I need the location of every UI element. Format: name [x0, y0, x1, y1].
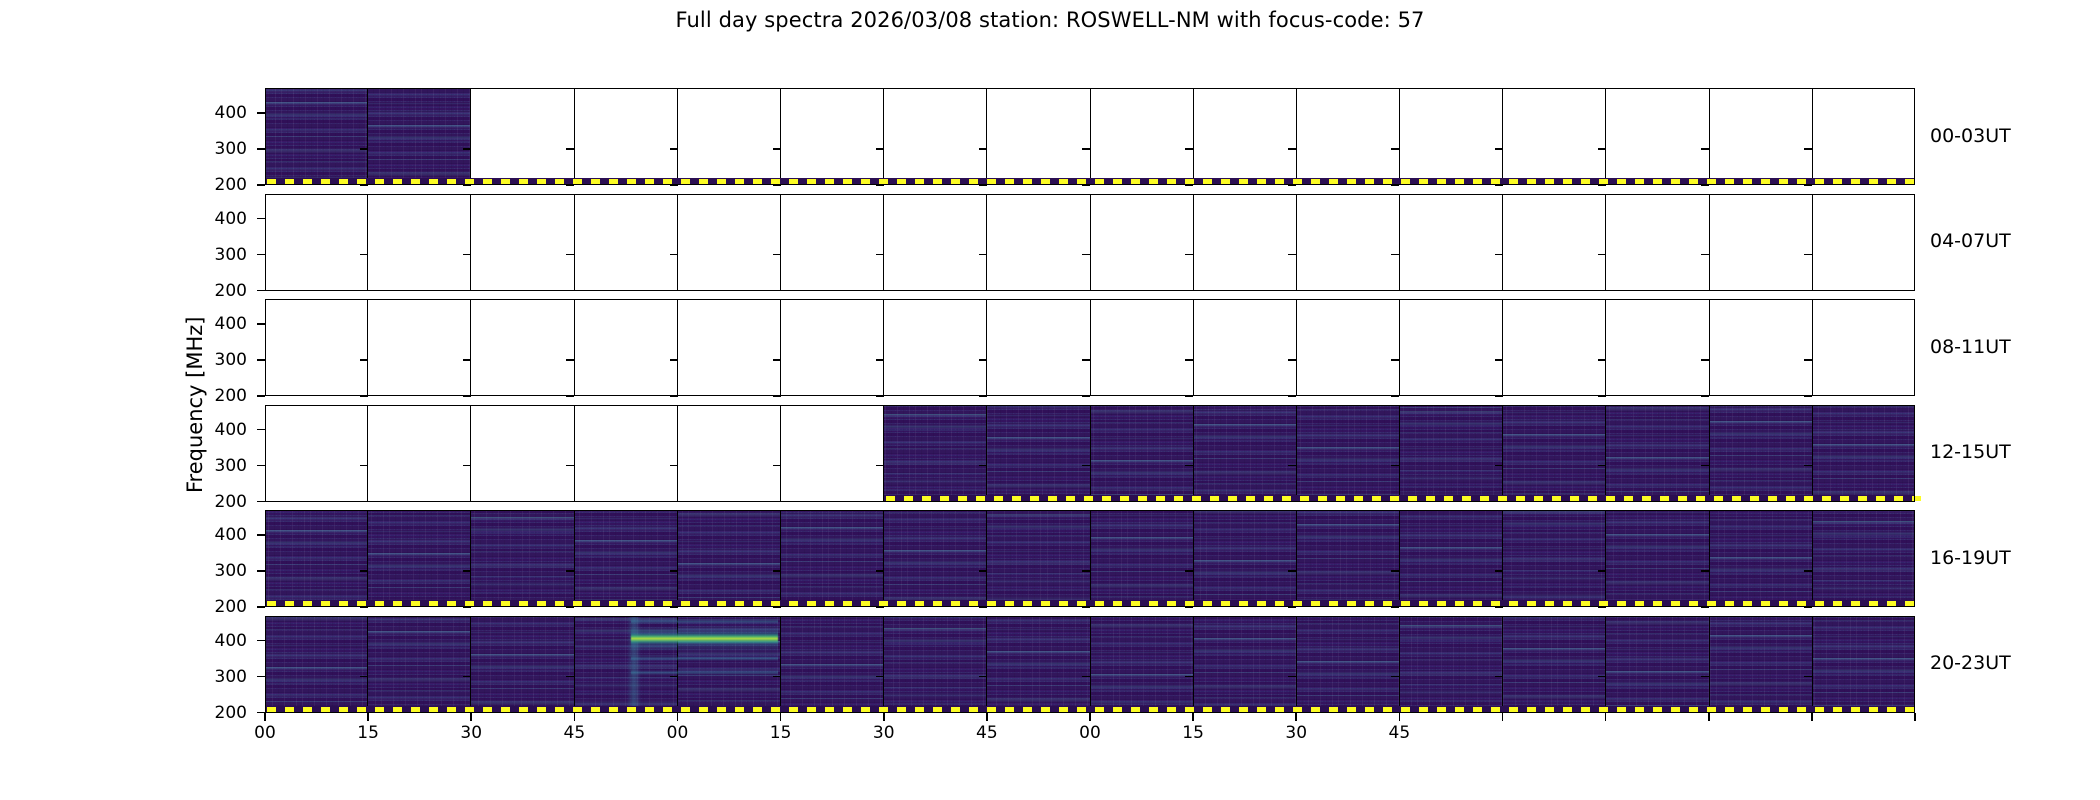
spectrogram-cell-empty[interactable] [471, 194, 574, 291]
x-axis-tick [1914, 713, 1916, 721]
y-axis-tick-label: 300 [189, 667, 247, 687]
spectrogram-row-20-23ut[interactable] [265, 616, 1915, 713]
y-axis-tick [257, 254, 265, 256]
spectrogram-row-04-07ut[interactable] [265, 194, 1915, 291]
noise-layer-bands [884, 405, 986, 502]
spectrogram-data [1606, 405, 1708, 502]
noise-layer-bands [1194, 510, 1296, 607]
interior-tick [1082, 148, 1090, 150]
spectrogram-cell-empty[interactable] [575, 299, 678, 396]
interior-tick [979, 606, 987, 608]
y-axis-tick [257, 712, 265, 714]
interior-tick [1082, 254, 1090, 256]
x-axis-tick-label: 00 [658, 723, 698, 743]
x-axis-tick-label: 15 [761, 723, 801, 743]
interior-tick [463, 570, 471, 572]
row-time-label: 20-23UT [1930, 652, 2011, 674]
interior-tick [773, 395, 781, 397]
interior-tick [566, 148, 574, 150]
spectrogram-cell[interactable] [1194, 405, 1297, 502]
interior-tick [1288, 395, 1296, 397]
spectrogram-cell-empty[interactable] [1400, 299, 1503, 396]
x-axis-tick [470, 713, 472, 721]
x-axis-tick [780, 713, 782, 721]
spectrogram-cell-empty[interactable] [471, 405, 574, 502]
spectrogram-cell[interactable] [1400, 616, 1503, 713]
spectrogram-cell-empty[interactable] [781, 194, 884, 291]
noise-layer-bands [1606, 510, 1708, 607]
interior-tick [1598, 676, 1606, 678]
spectrogram-cell[interactable] [1503, 616, 1606, 713]
interior-tick [773, 184, 781, 186]
interior-tick [773, 254, 781, 256]
interior-tick [979, 465, 987, 467]
spectrogram-cell[interactable] [575, 510, 678, 607]
spectrogram-data [1400, 405, 1502, 502]
noise-layer-bands [781, 510, 883, 607]
row-cells [265, 299, 1915, 396]
noise-layer-bands [1400, 510, 1502, 607]
interior-tick [1391, 465, 1399, 467]
spectrogram-cell[interactable] [987, 510, 1090, 607]
spectrogram-cell[interactable] [1297, 616, 1400, 713]
spectrogram-cell-empty[interactable] [1297, 299, 1400, 396]
noise-layer-bands [1297, 405, 1399, 502]
y-axis-tick-label: 300 [189, 456, 247, 476]
spectrogram-cell[interactable] [575, 616, 678, 713]
spectrogram-cell-empty[interactable] [884, 88, 987, 185]
spectrogram-cell-empty[interactable] [1710, 88, 1813, 185]
spectrogram-cell[interactable] [1091, 616, 1194, 713]
spectrogram-cell-empty[interactable] [1091, 88, 1194, 185]
spectrogram-cell-empty[interactable] [265, 299, 368, 396]
y-axis-tick-label: 400 [189, 420, 247, 440]
interior-tick [670, 501, 678, 503]
interior-tick [1701, 606, 1709, 608]
noise-layer-bands [368, 510, 470, 607]
interior-tick [1804, 465, 1812, 467]
interior-tick [670, 570, 678, 572]
interior-tick [1804, 501, 1812, 503]
spectrogram-cell[interactable] [368, 510, 471, 607]
interior-tick [1391, 148, 1399, 150]
interior-tick [1701, 290, 1709, 292]
spectrogram-cell-empty[interactable] [1503, 88, 1606, 185]
interior-tick [1598, 290, 1606, 292]
spectrogram-data [1710, 616, 1812, 713]
interior-tick [566, 606, 574, 608]
interior-tick [1598, 606, 1606, 608]
interior-tick [1288, 606, 1296, 608]
noise-layer-bands [1503, 405, 1605, 502]
interior-tick [773, 501, 781, 503]
spectrogram-cell-empty[interactable] [678, 88, 781, 185]
y-axis-tick [257, 501, 265, 503]
spectrogram-cell[interactable] [678, 616, 781, 713]
interior-tick [670, 712, 678, 714]
spectrogram-cell-empty[interactable] [1400, 88, 1503, 185]
x-axis-tick [367, 713, 369, 721]
spectrogram-cell[interactable] [1813, 405, 1915, 502]
interior-tick [979, 184, 987, 186]
y-axis-tick-label: 400 [189, 631, 247, 651]
interior-tick [1598, 465, 1606, 467]
interior-tick [1804, 570, 1812, 572]
spectrogram-cell-empty[interactable] [987, 299, 1090, 396]
spectrogram-cell-empty[interactable] [1297, 194, 1400, 291]
interior-tick [1598, 395, 1606, 397]
spectrogram-cell-empty[interactable] [1710, 299, 1813, 396]
spectrogram-data [1194, 510, 1296, 607]
interior-tick [670, 395, 678, 397]
spectrogram-cell[interactable] [1297, 510, 1400, 607]
interior-tick [1288, 712, 1296, 714]
spectrogram-cell-empty[interactable] [781, 299, 884, 396]
spectrogram-cell[interactable] [987, 616, 1090, 713]
y-axis-tick-label: 300 [189, 139, 247, 159]
y-axis-tick-label: 400 [189, 525, 247, 545]
spectrogram-cell[interactable] [781, 616, 884, 713]
interior-tick [1495, 465, 1503, 467]
spectrogram-cell-empty[interactable] [368, 299, 471, 396]
spectrogram-data [1297, 616, 1399, 713]
spectrogram-cell-empty[interactable] [1606, 194, 1709, 291]
spectrogram-cell-empty[interactable] [1813, 299, 1915, 396]
interior-tick [1495, 254, 1503, 256]
spectrogram-row-08-11ut[interactable] [265, 299, 1915, 396]
spectrogram-cell[interactable] [471, 616, 574, 713]
spectrogram-cell-empty[interactable] [1194, 88, 1297, 185]
spectrogram-cell[interactable] [368, 88, 471, 185]
interior-tick [1391, 254, 1399, 256]
row-time-label: 16-19UT [1930, 547, 2011, 569]
spectrogram-data [471, 510, 573, 607]
interior-tick [1495, 712, 1503, 714]
spectrogram-data [884, 405, 986, 502]
interior-tick [670, 465, 678, 467]
spectrogram-cell[interactable] [987, 405, 1090, 502]
spectrogram-cell-empty[interactable] [265, 405, 368, 502]
interior-tick [463, 676, 471, 678]
interior-tick [1495, 290, 1503, 292]
spectrogram-cell-empty[interactable] [471, 88, 574, 185]
interior-tick [1288, 148, 1296, 150]
spectrogram-data [1091, 405, 1193, 502]
x-axis-tick [986, 713, 988, 721]
interior-tick [1185, 712, 1193, 714]
spectrogram-cell-empty[interactable] [884, 299, 987, 396]
interior-tick [670, 676, 678, 678]
spectrogram-cell[interactable] [1297, 405, 1400, 502]
y-axis-tick [257, 676, 265, 678]
spectrogram-cell[interactable] [265, 616, 368, 713]
interior-tick [1804, 359, 1812, 361]
interior-tick [1185, 359, 1193, 361]
spectrogram-cell-empty[interactable] [1813, 88, 1915, 185]
spectrogram-data [1400, 616, 1502, 713]
y-axis-tick-label: 200 [189, 703, 247, 723]
spectrogram-cell-empty[interactable] [987, 194, 1090, 291]
interior-tick [773, 148, 781, 150]
x-axis-tick-label: 45 [554, 723, 594, 743]
spectrogram-cell-empty[interactable] [265, 194, 368, 291]
spectrogram-cell[interactable] [1503, 510, 1606, 607]
y-axis-tick [257, 395, 265, 397]
y-axis-tick-label: 400 [189, 103, 247, 123]
x-axis-tick [1399, 713, 1401, 721]
spectrogram-cell-empty[interactable] [368, 194, 471, 291]
interior-tick [1185, 676, 1193, 678]
spectrogram-data [1400, 510, 1502, 607]
interior-tick [1082, 359, 1090, 361]
spectrogram-data [265, 616, 367, 713]
spectrogram-cell[interactable] [1194, 616, 1297, 713]
spectrogram-cell[interactable] [1710, 510, 1813, 607]
interior-tick [979, 290, 987, 292]
interior-tick [1391, 712, 1399, 714]
spectrogram-cell[interactable] [471, 510, 574, 607]
interior-tick [1598, 570, 1606, 572]
x-axis-tick-label: 15 [348, 723, 388, 743]
interior-tick [1288, 254, 1296, 256]
y-axis-tick [257, 534, 265, 536]
noise-layer-bands [265, 88, 367, 185]
spectrogram-data [884, 616, 986, 713]
x-axis-tick [883, 713, 885, 721]
spectrogram-cell[interactable] [368, 616, 471, 713]
spectrogram-data [1813, 405, 1915, 502]
spectrogram-cell[interactable] [1400, 405, 1503, 502]
interior-tick [979, 359, 987, 361]
interior-tick [1598, 501, 1606, 503]
spectrogram-cell-empty[interactable] [678, 194, 781, 291]
interior-tick [1701, 359, 1709, 361]
interior-tick [463, 184, 471, 186]
spectrogram-cell-empty[interactable] [575, 194, 678, 291]
spectrogram-cell-empty[interactable] [575, 405, 678, 502]
figure-title: Full day spectra 2026/03/08 station: ROS… [0, 8, 2100, 32]
interior-tick [360, 395, 368, 397]
row-cells [265, 88, 1915, 185]
spectrogram-cell-empty[interactable] [1091, 194, 1194, 291]
spectrogram-cell-empty[interactable] [1091, 299, 1194, 396]
interior-tick [1701, 501, 1709, 503]
spectrogram-cell[interactable] [1091, 405, 1194, 502]
interior-tick [1391, 676, 1399, 678]
spectrogram-cell-empty[interactable] [678, 405, 781, 502]
interior-tick [670, 359, 678, 361]
y-axis-tick [257, 640, 265, 642]
spectrogram-data [987, 405, 1089, 502]
spectrogram-cell[interactable] [1606, 405, 1709, 502]
spectrogram-cell[interactable] [1606, 616, 1709, 713]
spectrogram-data [368, 88, 470, 185]
noise-layer-bands [1194, 405, 1296, 502]
spectrogram-cell[interactable] [1710, 616, 1813, 713]
x-axis-tick-label: 30 [864, 723, 904, 743]
spectrogram-cell-empty[interactable] [1606, 88, 1709, 185]
interior-tick [1495, 395, 1503, 397]
interior-tick [360, 148, 368, 150]
spectrogram-cell-empty[interactable] [1606, 299, 1709, 396]
spectrogram-cell[interactable] [1503, 405, 1606, 502]
interior-tick [1288, 501, 1296, 503]
x-axis-tick [574, 713, 576, 721]
spectrogram-cell[interactable] [1194, 510, 1297, 607]
interior-tick [773, 359, 781, 361]
spectrogram-cell-empty[interactable] [1813, 194, 1915, 291]
interior-tick [463, 712, 471, 714]
spectrogram-cell[interactable] [1400, 510, 1503, 607]
interior-tick [566, 184, 574, 186]
noise-layer-bands [678, 616, 780, 713]
x-axis-tick [1192, 713, 1194, 721]
row-cells [265, 616, 1915, 713]
interior-tick [463, 290, 471, 292]
interior-tick [1701, 465, 1709, 467]
spectrogram-data [575, 616, 677, 713]
spectrogram-cell-empty[interactable] [1503, 299, 1606, 396]
spectrogram-cell-empty[interactable] [1297, 88, 1400, 185]
interior-tick [876, 184, 884, 186]
spectrogram-data [781, 616, 883, 713]
y-axis-tick [257, 570, 265, 572]
spectrogram-cell-empty[interactable] [678, 299, 781, 396]
interior-tick [1082, 606, 1090, 608]
spectrogram-data [884, 510, 986, 607]
spectrogram-cell-empty[interactable] [1503, 194, 1606, 291]
noise-layer-bands [1503, 616, 1605, 713]
spectrogram-data [678, 510, 780, 607]
x-axis-tick-label: 30 [1276, 723, 1316, 743]
noise-layer-bands [1813, 616, 1915, 713]
spectrogram-cell-empty[interactable] [1194, 194, 1297, 291]
spectrogram-cell[interactable] [265, 510, 368, 607]
noise-layer-bands [1297, 616, 1399, 713]
spectrogram-cell-empty[interactable] [1710, 194, 1813, 291]
row-time-label: 00-03UT [1930, 125, 2011, 147]
interior-tick [1701, 395, 1709, 397]
interior-tick [1082, 501, 1090, 503]
interior-tick [1391, 290, 1399, 292]
spectrogram-cell[interactable] [884, 616, 987, 713]
spectrogram-data [368, 510, 470, 607]
y-axis-tick-label: 400 [189, 314, 247, 334]
interior-tick [773, 465, 781, 467]
spectrogram-cell-empty[interactable] [575, 88, 678, 185]
spectrogram-cell-empty[interactable] [1194, 299, 1297, 396]
spectrogram-data [1710, 405, 1812, 502]
interior-tick [1288, 184, 1296, 186]
row-time-label: 04-07UT [1930, 230, 2011, 252]
interior-tick [463, 395, 471, 397]
interior-tick [1185, 254, 1193, 256]
interior-tick [1804, 290, 1812, 292]
noise-layer-bands [575, 616, 677, 713]
interior-tick [1598, 359, 1606, 361]
spectrogram-cell-empty[interactable] [471, 299, 574, 396]
row-cells [265, 194, 1915, 291]
spectrogram-cell-empty[interactable] [781, 405, 884, 502]
noise-layer-bands [1710, 405, 1812, 502]
spectrogram-data [1297, 510, 1399, 607]
interior-tick [670, 606, 678, 608]
interior-tick [1495, 501, 1503, 503]
spectrogram-cell-empty[interactable] [781, 88, 884, 185]
noise-layer-bands [1503, 510, 1605, 607]
spectrogram-data [1194, 405, 1296, 502]
spectrogram-cell-empty[interactable] [987, 88, 1090, 185]
spectrogram-figure: Full day spectra 2026/03/08 station: ROS… [0, 0, 2100, 800]
interior-tick [1701, 184, 1709, 186]
y-axis-tick-label: 400 [189, 209, 247, 229]
noise-layer-bands [781, 616, 883, 713]
spectrogram-cell[interactable] [678, 510, 781, 607]
noise-layer-bands [471, 616, 573, 713]
interior-tick [463, 148, 471, 150]
spectrogram-cell-empty[interactable] [1400, 194, 1503, 291]
interior-tick [670, 290, 678, 292]
noise-layer-bands [1297, 510, 1399, 607]
spectrogram-data [265, 510, 367, 607]
interior-tick [1288, 570, 1296, 572]
interior-tick [1598, 184, 1606, 186]
interior-tick [360, 606, 368, 608]
interior-tick [876, 570, 884, 572]
spectrogram-cell[interactable] [265, 88, 368, 185]
y-axis-tick [257, 148, 265, 150]
noise-layer-bands [884, 616, 986, 713]
spectrogram-cell-empty[interactable] [368, 405, 471, 502]
spectrogram-cell[interactable] [781, 510, 884, 607]
spectrogram-data [987, 616, 1089, 713]
spectrogram-cell[interactable] [1606, 510, 1709, 607]
spectrogram-data [1297, 405, 1399, 502]
spectrogram-row-16-19ut[interactable] [265, 510, 1915, 607]
spectrogram-cell[interactable] [884, 510, 987, 607]
spectrogram-row-00-03ut[interactable] [265, 88, 1915, 185]
x-axis-tick [1295, 713, 1297, 721]
noise-layer-bands [1194, 616, 1296, 713]
interior-tick [876, 501, 884, 503]
spectrogram-data [1503, 616, 1605, 713]
interior-tick [1185, 395, 1193, 397]
row-time-label: 12-15UT [1930, 441, 2011, 463]
y-axis-tick [257, 290, 265, 292]
spectrogram-row-12-15ut[interactable] [265, 405, 1915, 502]
spectrogram-cell[interactable] [1710, 405, 1813, 502]
interior-tick [360, 676, 368, 678]
interior-tick [1495, 148, 1503, 150]
interior-tick [566, 676, 574, 678]
interior-tick [876, 254, 884, 256]
spectrogram-cell[interactable] [1813, 510, 1915, 607]
x-axis-tick-label: 45 [1379, 723, 1419, 743]
interior-tick [360, 465, 368, 467]
spectrogram-data [1503, 405, 1605, 502]
interior-tick [1185, 465, 1193, 467]
spectrogram-cell[interactable] [1813, 616, 1915, 713]
spectrogram-cell[interactable] [884, 405, 987, 502]
interior-tick [1288, 359, 1296, 361]
spectrogram-cell-empty[interactable] [884, 194, 987, 291]
y-axis-tick [257, 465, 265, 467]
interior-tick [773, 290, 781, 292]
interior-tick [1185, 501, 1193, 503]
interior-tick [1598, 712, 1606, 714]
y-axis-tick [257, 112, 265, 114]
spectrogram-cell[interactable] [1091, 510, 1194, 607]
